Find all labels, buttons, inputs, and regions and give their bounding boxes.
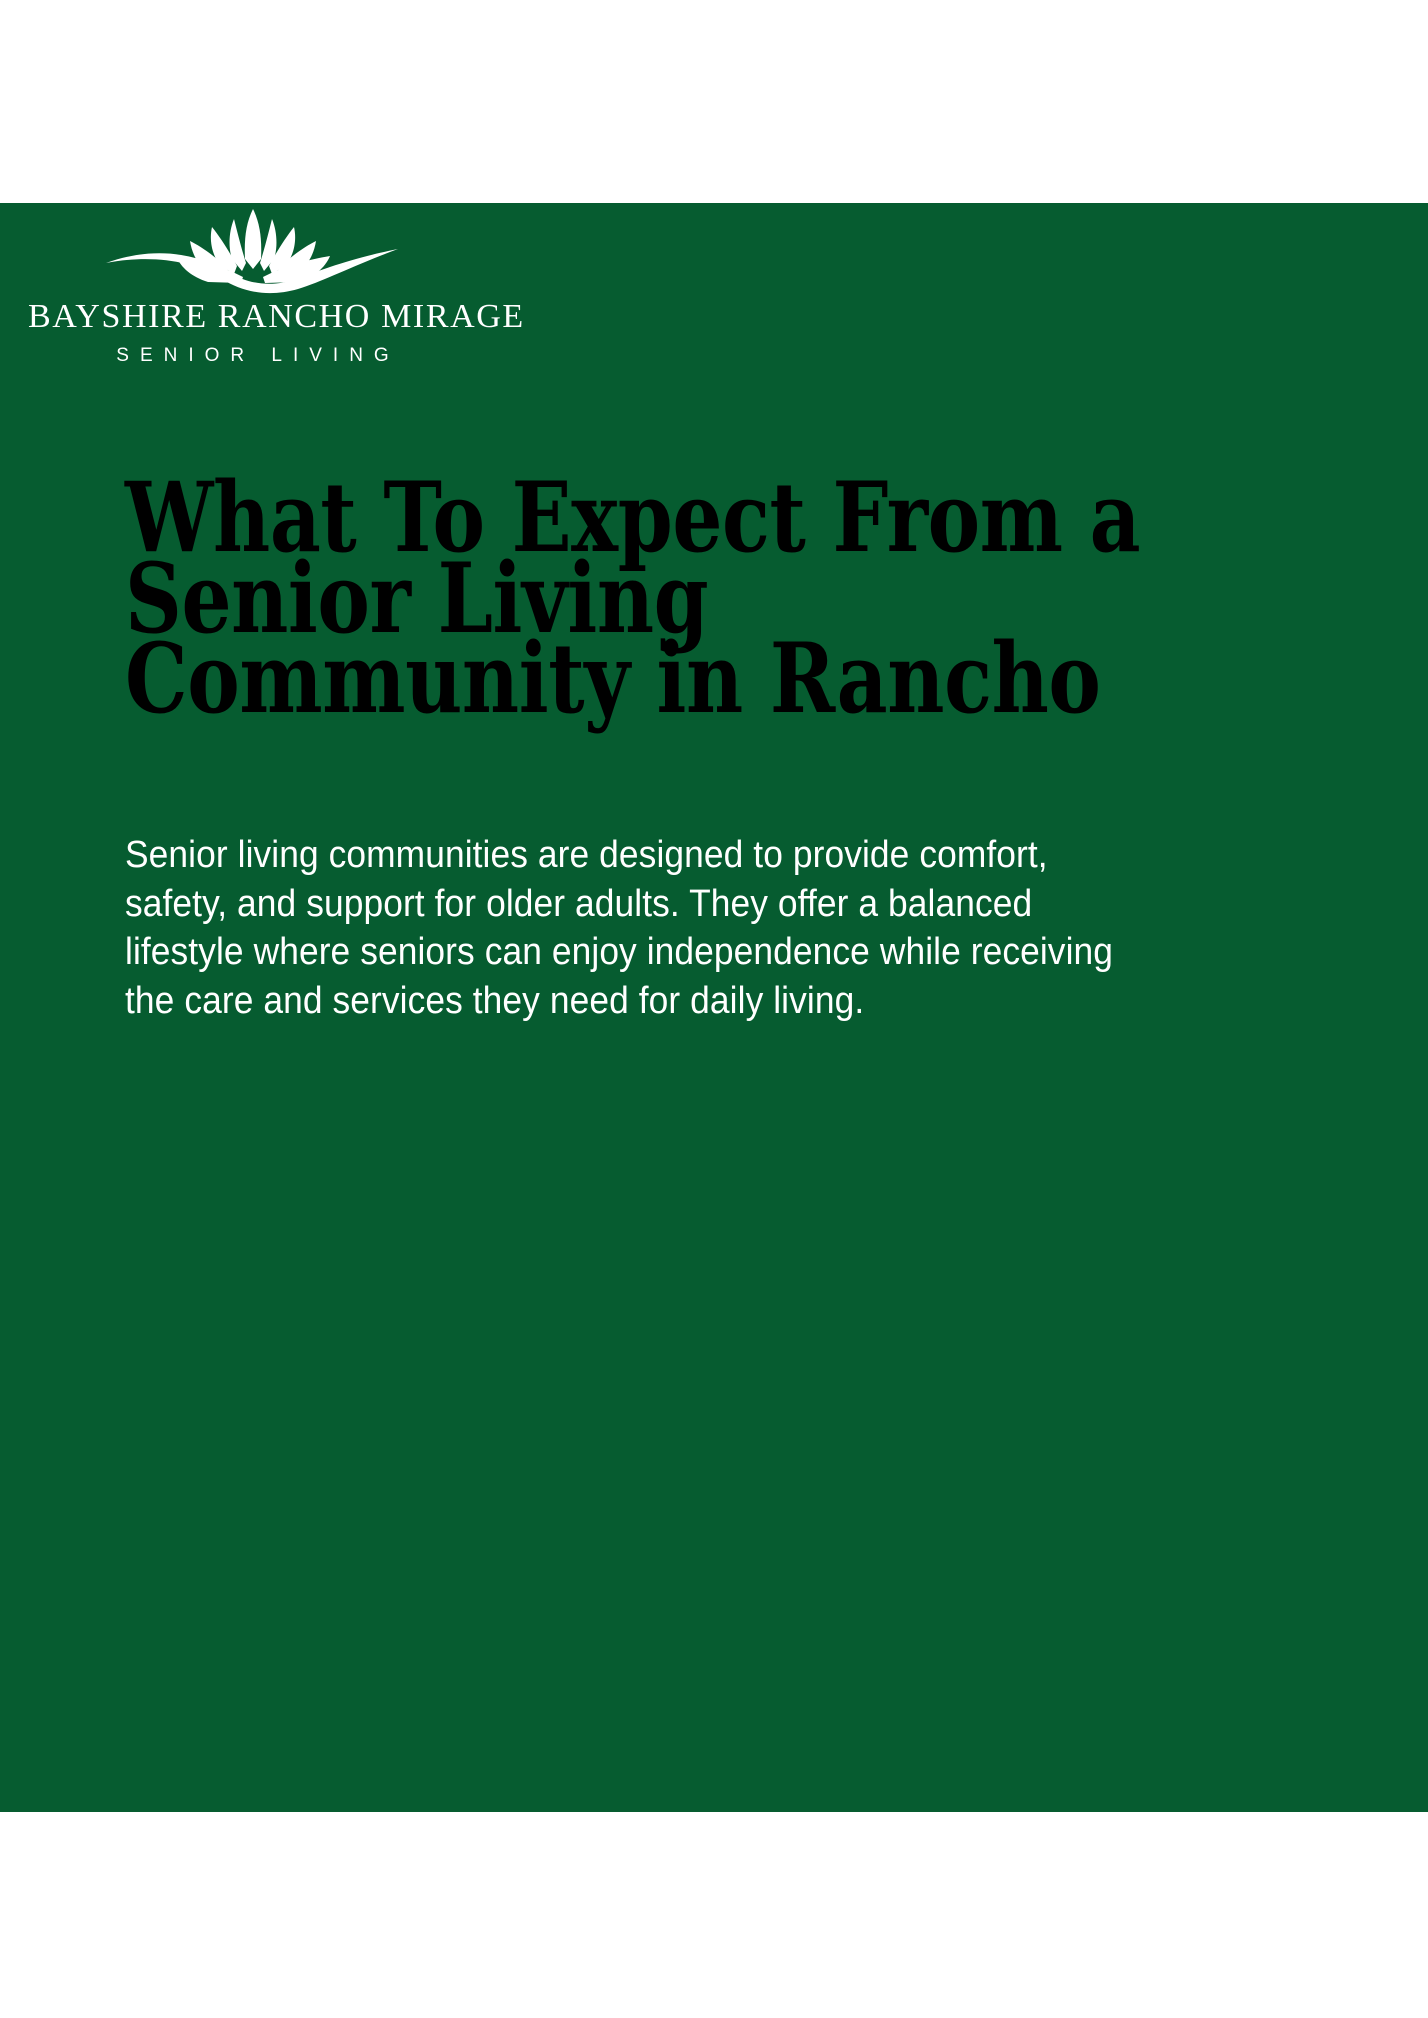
hero-description-line-4: the care and services they need for dail… bbox=[125, 977, 1428, 1026]
hero-description: Senior living communities are designed t… bbox=[125, 831, 1428, 1026]
lotus-flower-icon bbox=[98, 203, 408, 295]
hero-description-line-3: lifestyle where seniors can enjoy indepe… bbox=[125, 928, 1428, 977]
brand-logo[interactable]: BAYSHIRE RANCHO MIRAGE SENIOR LIVING bbox=[28, 203, 478, 367]
logo-subwordmark: SENIOR LIVING bbox=[28, 345, 478, 367]
top-white-gutter bbox=[0, 0, 1428, 203]
page-title: What To Expect From a Senior Living Comm… bbox=[125, 478, 1355, 720]
page-root: BAYSHIRE RANCHO MIRAGE SENIOR LIVING Wha… bbox=[0, 0, 1428, 2018]
page-title-line-3: Community in Rancho bbox=[125, 639, 1355, 720]
hero-description-line-1: Senior living communities are designed t… bbox=[125, 831, 1428, 880]
hero-panel: BAYSHIRE RANCHO MIRAGE SENIOR LIVING Wha… bbox=[0, 203, 1428, 1812]
hero-description-line-2: safety, and support for older adults. Th… bbox=[125, 880, 1428, 929]
bottom-white-gutter bbox=[0, 1812, 1428, 2018]
logo-wordmark: BAYSHIRE RANCHO MIRAGE bbox=[28, 299, 478, 335]
